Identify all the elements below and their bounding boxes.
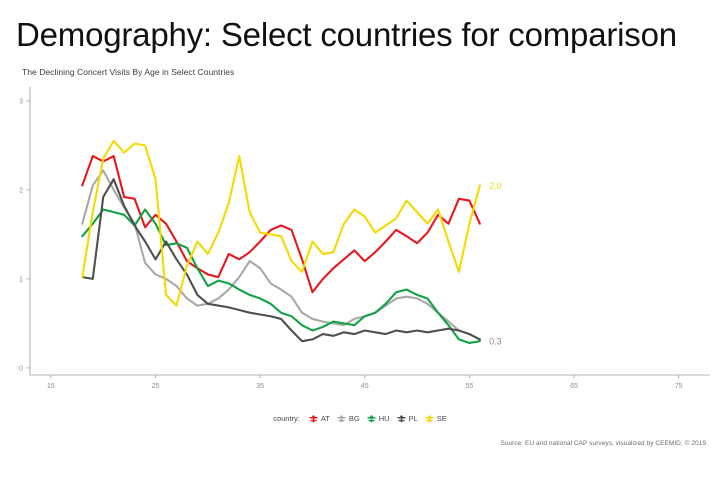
svg-text:15: 15	[47, 383, 55, 390]
svg-text:55: 55	[465, 383, 473, 390]
legend-marker-icon	[337, 414, 346, 423]
legend-label: SE	[437, 414, 447, 423]
svg-text:2: 2	[19, 187, 23, 194]
svg-text:75: 75	[675, 383, 683, 390]
legend-marker-icon	[425, 414, 434, 423]
legend-item-hu[interactable]: HU	[367, 414, 390, 423]
chart-container: The Declining Concert Visits By Age in S…	[0, 62, 720, 480]
legend-label: PL	[409, 414, 418, 423]
svg-text:45: 45	[361, 383, 369, 390]
legend-marker-icon	[309, 414, 318, 423]
chart-annotations: 2.00.3	[489, 181, 502, 347]
legend-label: AT	[321, 414, 330, 423]
svg-text:0.3: 0.3	[489, 337, 502, 347]
legend-label: HU	[379, 414, 390, 423]
svg-text:35: 35	[256, 383, 264, 390]
legend-item-se[interactable]: SE	[425, 414, 447, 423]
svg-text:1: 1	[19, 276, 23, 283]
chart-axes: 012315253545556575	[19, 87, 710, 390]
svg-text:25: 25	[152, 383, 160, 390]
svg-text:2.0: 2.0	[489, 181, 502, 191]
legend-item-at[interactable]: AT	[309, 414, 330, 423]
legend-title: country:	[273, 414, 300, 423]
legend-item-bg[interactable]: BG	[337, 414, 360, 423]
line-chart-plot: 012315253545556575 2.00.3	[0, 62, 720, 462]
legend-label: BG	[349, 414, 360, 423]
svg-text:65: 65	[570, 383, 578, 390]
chart-legend: country: ATBGHUPLSE	[0, 414, 720, 423]
svg-text:0: 0	[19, 365, 23, 372]
svg-text:3: 3	[19, 98, 23, 105]
slide-root: Demography: Select countries for compari…	[0, 0, 720, 480]
source-note: Source: EU and national CAP surveys, vis…	[500, 440, 706, 447]
legend-item-pl[interactable]: PL	[397, 414, 418, 423]
legend-marker-icon	[397, 414, 406, 423]
chart-series-layer	[82, 141, 480, 343]
page-title: Demography: Select countries for compari…	[16, 16, 706, 54]
legend-marker-icon	[367, 414, 376, 423]
